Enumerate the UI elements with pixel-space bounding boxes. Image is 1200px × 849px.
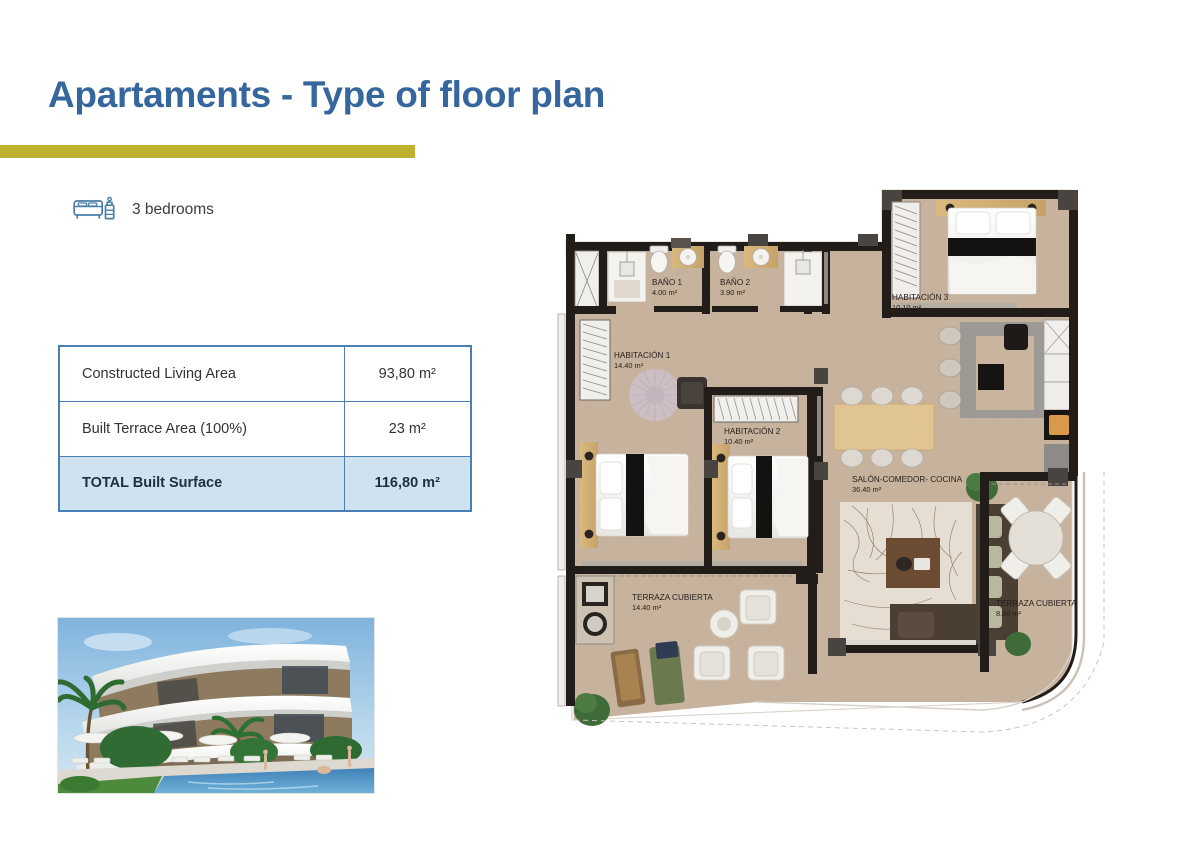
room-label: BAÑO 1 — [652, 277, 682, 287]
table-row: Constructed Living Area 93,80 m² — [59, 346, 471, 401]
room-area: 4.00 m² — [652, 288, 678, 297]
floor-plan-page: Apartaments - Type of floor plan — [0, 0, 1200, 849]
row-label: Constructed Living Area — [59, 346, 344, 401]
room-label: HABITACIÓN 1 — [614, 350, 671, 360]
room-label: BAÑO 2 — [720, 277, 750, 287]
room-label: HABITACIÓN 2 — [724, 426, 781, 436]
room-area: 14.40 m² — [632, 603, 662, 612]
row-value: 116,80 m² — [344, 456, 471, 511]
row-label: Built Terrace Area (100%) — [59, 401, 344, 456]
table-row: Built Terrace Area (100%) 23 m² — [59, 401, 471, 456]
room-label: SALÓN-COMEDOR- COCINA — [852, 474, 963, 484]
room-area: 10.10 m² — [892, 303, 922, 312]
bedroom-count-badge: 3 bedrooms — [72, 190, 214, 229]
room-area: 3.90 m² — [720, 288, 746, 297]
row-value: 93,80 m² — [344, 346, 471, 401]
table-row-total: TOTAL Built Surface 116,80 m² — [59, 456, 471, 511]
row-value: 23 m² — [344, 401, 471, 456]
floor-plan-drawing: HABITACIÓN 3 10.10 m² — [552, 172, 1152, 772]
room-label: TERRAZA CUBIERTA — [996, 599, 1077, 608]
room-area: 14.40 m² — [614, 361, 644, 370]
room-label: TERRAZA CUBIERTA — [632, 593, 713, 602]
bed-icon — [72, 190, 118, 229]
room-area: 10.40 m² — [724, 437, 754, 446]
accent-bar — [0, 145, 415, 158]
room-label: HABITACIÓN 3 — [892, 292, 949, 302]
row-label: TOTAL Built Surface — [59, 456, 344, 511]
bedroom-count-label: 3 bedrooms — [132, 201, 214, 219]
page-title: Apartaments - Type of floor plan — [48, 74, 605, 116]
room-area: 8.60 m² — [996, 609, 1022, 618]
area-summary-table: Constructed Living Area 93,80 m² Built T… — [58, 345, 472, 512]
room-area: 36.40 m² — [852, 485, 882, 494]
building-render-photo — [57, 617, 375, 794]
